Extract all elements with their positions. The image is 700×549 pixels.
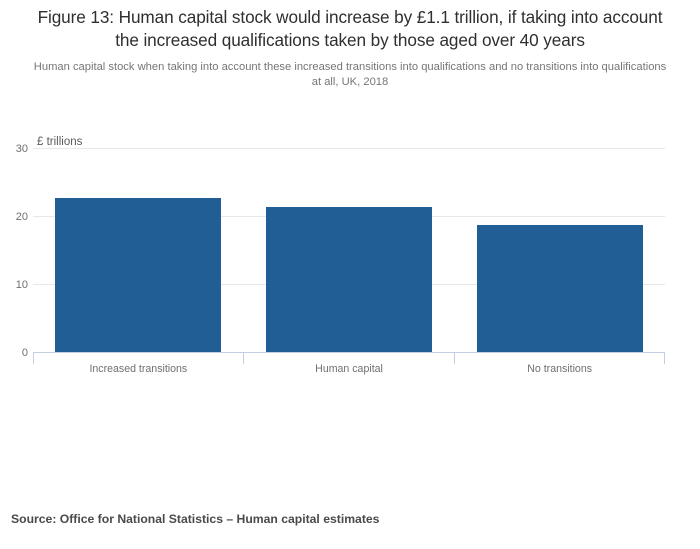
bars-layer [33,148,665,352]
bar-human-capital[interactable] [266,207,432,352]
source-note: Source: Office for National Statistics –… [11,512,379,526]
x-axis-label-2: No transitions [454,362,665,376]
x-axis-label-0: Increased transitions [33,362,244,376]
bar-increased-transitions[interactable] [55,198,221,352]
figure-container: Figure 13: Human capital stock would inc… [0,0,700,549]
y-axis-title: £ trillions [37,136,86,148]
chart-plot: £ trillions 30 20 10 0 [0,0,700,549]
y-tick-label-10: 10 [4,280,28,291]
y-tick-label-20: 20 [4,212,28,223]
y-axis-ticks: 30 20 10 0 [0,148,28,352]
bar-no-transitions[interactable] [477,225,643,352]
x-axis-label-1: Human capital [244,362,455,376]
y-tick-label-30: 30 [4,144,28,155]
y-tick-label-0: 0 [4,348,28,359]
x-axis-labels: Increased transitions Human capital No t… [33,362,665,378]
